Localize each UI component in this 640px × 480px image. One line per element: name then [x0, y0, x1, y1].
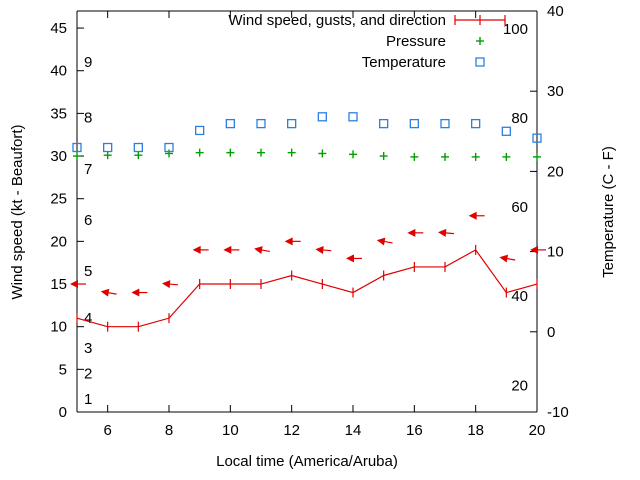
left-axis-kt-label: 20 [50, 233, 67, 250]
x-axis-label: 20 [529, 422, 546, 439]
x-axis-label: 6 [103, 422, 111, 439]
y-axis-title: Wind speed (kt - Beaufort) [9, 124, 26, 299]
right-axis-fahrenheit-label: 80 [511, 110, 528, 127]
right-axis-fahrenheit-label: 60 [511, 199, 528, 216]
left-axis-kt-label: 45 [50, 20, 67, 37]
left-axis-kt-label: 10 [50, 319, 67, 336]
x-axis-label: 18 [467, 422, 484, 439]
x-axis-label: 10 [222, 422, 239, 439]
right-axis-celsius-label: 0 [547, 324, 555, 341]
left-axis-beaufort-label: 1 [84, 391, 92, 408]
legend-label-0: Wind speed, gusts, and direction [228, 12, 446, 29]
x-axis-label: 14 [345, 422, 362, 439]
left-axis-kt-label: 15 [50, 276, 67, 293]
right-axis-celsius-label: -10 [547, 404, 569, 421]
left-axis-kt-label: 5 [59, 361, 67, 378]
left-axis-beaufort-label: 5 [84, 263, 92, 280]
right-axis-celsius-label: 10 [547, 244, 564, 261]
right-axis-celsius-label: 30 [547, 83, 564, 100]
left-axis-beaufort-label: 2 [84, 366, 92, 383]
meteogram-chart: 051015202530354045 123456789 -1001020304… [0, 0, 640, 480]
left-axis-beaufort-label: 8 [84, 110, 92, 127]
x-axis-title: Local time (America/Aruba) [216, 453, 398, 470]
left-axis-beaufort-label: 3 [84, 340, 92, 357]
legend-label-2: Temperature [362, 54, 446, 71]
left-axis-beaufort-label: 9 [84, 54, 92, 71]
left-axis-beaufort-label: 6 [84, 212, 92, 229]
chart-background [0, 0, 640, 480]
left-axis-kt-label: 0 [59, 404, 67, 421]
x-axis-label: 8 [165, 422, 173, 439]
left-axis-beaufort-label: 4 [84, 310, 92, 327]
right-axis-fahrenheit-label: 100 [503, 21, 528, 38]
x-axis-label: 16 [406, 422, 423, 439]
left-axis-kt-label: 30 [50, 148, 67, 165]
right-axis-celsius-label: 40 [547, 3, 564, 20]
left-axis-kt-label: 25 [50, 191, 67, 208]
left-axis-kt-label: 35 [50, 105, 67, 122]
left-axis-kt-label: 40 [50, 63, 67, 80]
left-axis-beaufort-label: 7 [84, 161, 92, 178]
y2-axis-title: Temperature (C - F) [600, 146, 617, 278]
chart-canvas: 051015202530354045 123456789 -1001020304… [0, 0, 640, 480]
legend-label-1: Pressure [386, 33, 446, 50]
right-axis-celsius-label: 20 [547, 163, 564, 180]
x-axis-label: 12 [283, 422, 300, 439]
right-axis-fahrenheit-label: 20 [511, 377, 528, 394]
